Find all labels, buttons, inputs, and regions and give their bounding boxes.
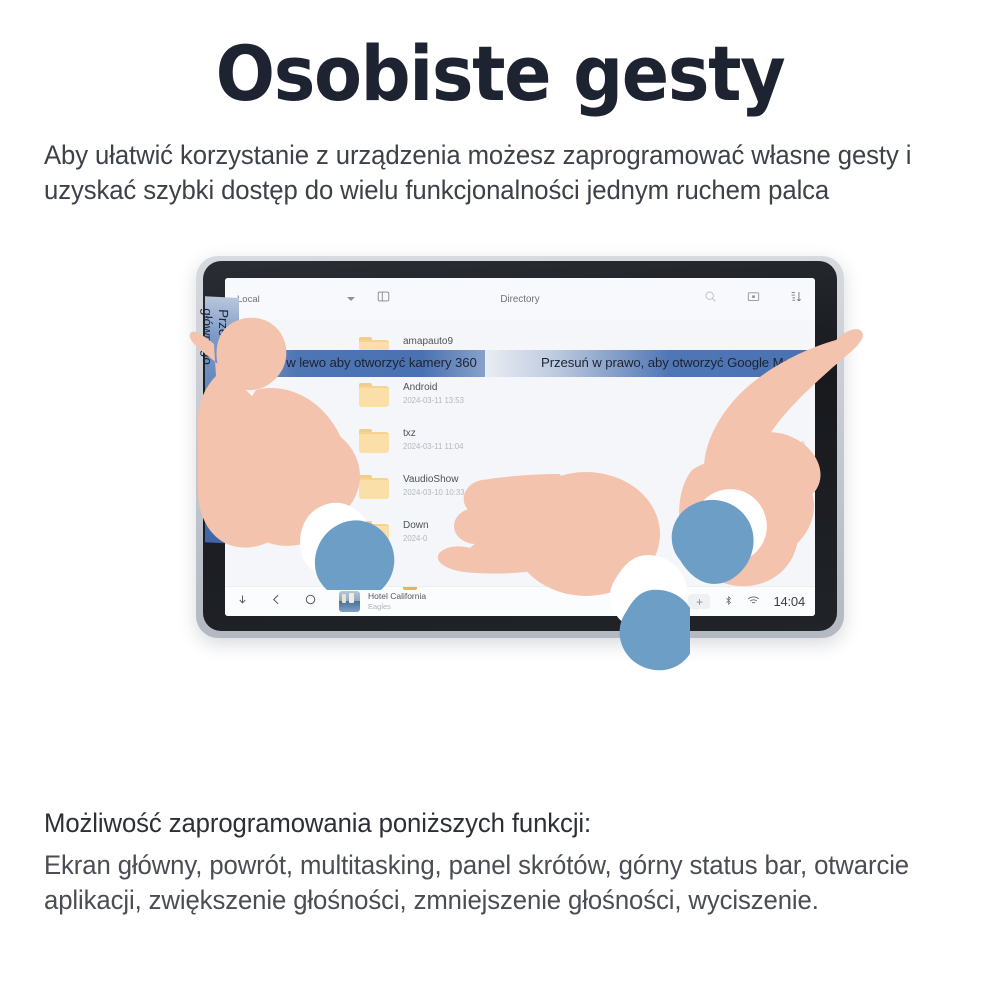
hand-center bbox=[430, 452, 690, 702]
new-folder-icon[interactable] bbox=[747, 290, 760, 308]
album-art bbox=[339, 591, 360, 612]
sort-az-icon[interactable] bbox=[790, 290, 803, 308]
file-name: amapauto9 bbox=[403, 334, 464, 349]
footer-title: Możliwość zaprogramowania poniższych fun… bbox=[44, 808, 591, 839]
hand-left bbox=[186, 300, 396, 590]
home-circle-icon[interactable] bbox=[293, 593, 327, 611]
page-root: Osobiste gesty Aby ułatwić korzystanie z… bbox=[0, 0, 1000, 1000]
track-artist: Eagles bbox=[368, 602, 426, 612]
file-name: txz bbox=[403, 426, 463, 441]
bookmark-indicator-icon bbox=[403, 587, 417, 590]
footer-body: Ekran główny, powrót, multitasking, pane… bbox=[44, 848, 961, 918]
file-name: Down bbox=[403, 518, 429, 533]
now-playing[interactable]: Hotel California Eagles bbox=[368, 591, 426, 613]
file-date: 2024-03-11 13:53 bbox=[403, 395, 464, 407]
file-name: Android bbox=[403, 380, 464, 395]
page-title: Osobiste gesty bbox=[40, 34, 960, 115]
chevron-down-icon[interactable] bbox=[225, 593, 259, 611]
search-icon[interactable] bbox=[704, 290, 717, 308]
file-date: 2024-03-11 11:04 bbox=[403, 441, 463, 453]
page-subtitle: Aby ułatwić korzystanie z urządzenia moż… bbox=[44, 138, 956, 207]
directory-label: Directory bbox=[500, 294, 539, 305]
toolbar-actions bbox=[704, 290, 803, 308]
back-chevron-icon[interactable] bbox=[259, 593, 293, 611]
track-title: Hotel California bbox=[368, 591, 426, 602]
file-date: 2024-0 bbox=[403, 533, 429, 545]
